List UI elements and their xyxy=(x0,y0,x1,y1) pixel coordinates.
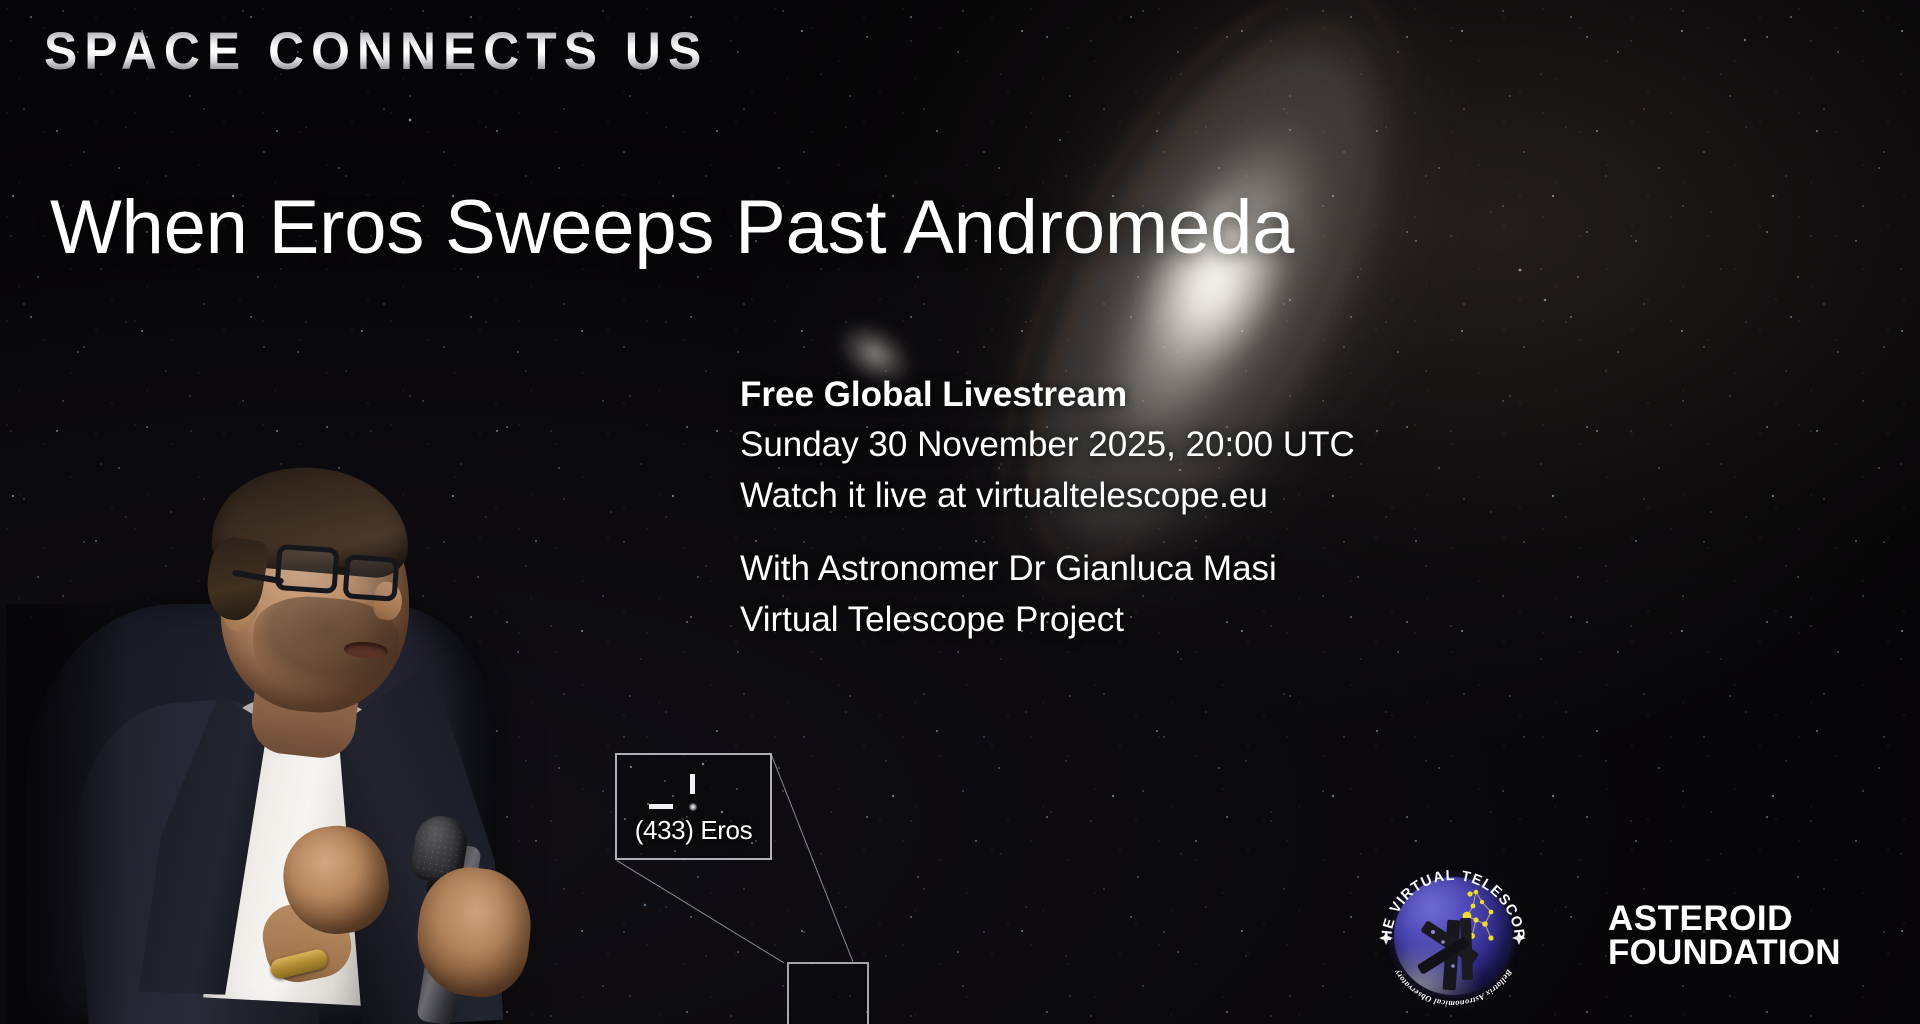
crosshair-tick-vertical-icon xyxy=(690,774,695,794)
asteroid-foundation-line1: ASTEROID xyxy=(1608,902,1858,936)
speaker-credit: With Astronomer Dr Gianluca Masi xyxy=(740,544,1480,594)
eros-label: (433) Eros xyxy=(617,815,770,846)
eros-zoom-inset: (433) Eros xyxy=(615,753,772,860)
telescope-glyph xyxy=(1417,918,1480,991)
organisation-credit: Virtual Telescope Project xyxy=(740,595,1480,645)
event-info-block: Free Global Livestream Sunday 30 Novembe… xyxy=(740,370,1480,645)
crosshair-tick-horizontal-icon xyxy=(649,804,673,809)
asteroid-foundation-logo[interactable]: ASTEROID FOUNDATION xyxy=(1608,902,1858,971)
livestream-headline: Free Global Livestream xyxy=(740,370,1480,420)
page-title: When Eros Sweeps Past Andromeda xyxy=(50,187,1294,269)
eros-target-marker xyxy=(689,803,697,811)
info-spacer xyxy=(740,521,1480,544)
event-datetime: Sunday 30 November 2025, 20:00 UTC xyxy=(740,420,1480,470)
poster-root: (433) Eros SPACE CONNECTS US When Eros S… xyxy=(0,0,1920,1024)
virtual-telescope-logo[interactable]: THE VIRTUAL TELESCOPE Bellatrix Astronom… xyxy=(1375,858,1531,1014)
logo-arc-text-top: THE VIRTUAL TELESCOPE Bellatrix Astronom… xyxy=(1375,858,1531,1014)
eros-source-region-box xyxy=(787,962,869,1024)
asteroid-foundation-line2: FOUNDATION xyxy=(1608,936,1858,970)
tagline: SPACE CONNECTS US xyxy=(44,25,708,78)
watch-link-line[interactable]: Watch it live at virtualtelescope.eu xyxy=(740,471,1480,521)
